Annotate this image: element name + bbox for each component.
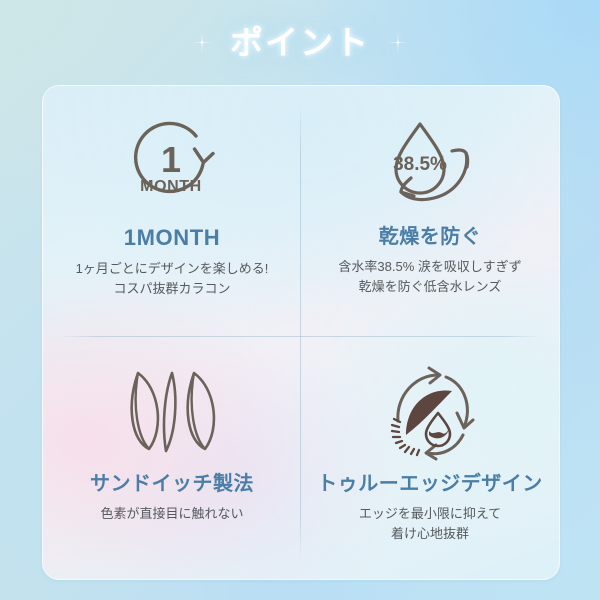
feature-desc-line: 着け心地抜群 xyxy=(359,524,501,544)
one-month-unit: MONTH xyxy=(140,178,202,195)
one-month-cycle-icon: 1 MONTH xyxy=(120,108,224,220)
page-title: ポイント xyxy=(230,26,370,59)
feature-desc-line: 1ヶ月ごとにデザインを楽しめる! xyxy=(76,259,269,279)
one-month-number: 1 xyxy=(161,139,181,180)
water-drop-icon: 38.5% xyxy=(374,108,486,220)
feature-desc-one-month: 1ヶ月ごとにデザインを楽しめる! コスパ抜群カラコン xyxy=(76,259,269,299)
feature-desc-line: コスパ抜群カラコン xyxy=(76,279,269,299)
feature-desc-true-edge-design: エッジを最小限に抑えて 着け心地抜群 xyxy=(359,504,501,544)
feature-title-sandwich-method: サンドイッチ製法 xyxy=(90,473,254,495)
feature-desc-line: 色素が直接目に触れない xyxy=(100,504,243,524)
feature-desc-line: 乾燥を防ぐ低含水レンズ xyxy=(338,277,521,297)
feature-title-prevent-dryness: 乾燥を防ぐ xyxy=(379,226,482,248)
feature-sandwich-method: サンドイッチ製法 色素が直接目に触れない xyxy=(43,333,301,580)
feature-desc-line: エッジを最小限に抑えて xyxy=(359,504,501,524)
promo-graphic: ポイント 1 MONTH 1MONTH 1ヶ月ごとにデザインを楽しめる! xyxy=(0,0,600,600)
feature-title-true-edge-design: トゥルーエッジデザイン xyxy=(317,473,543,495)
feature-true-edge-design: トゥルーエッジデザイン エッジを最小限に抑えて 着け心地抜群 xyxy=(301,333,559,580)
features-grid: 1 MONTH 1MONTH 1ヶ月ごとにデザインを楽しめる! コスパ抜群カラコ… xyxy=(43,86,559,579)
feature-prevent-dryness: 38.5% 乾燥を防ぐ 含水率38.5% 涙を吸収しすぎず 乾燥を防ぐ低含水レン… xyxy=(301,86,559,333)
sparkle-icon-right xyxy=(386,31,410,55)
water-content-value: 38.5% xyxy=(393,154,447,175)
features-card: 1 MONTH 1MONTH 1ヶ月ごとにデザインを楽しめる! コスパ抜群カラコ… xyxy=(42,85,560,580)
sparkle-icon-left xyxy=(190,31,214,55)
feature-desc-prevent-dryness: 含水率38.5% 涙を吸収しすぎず 乾燥を防ぐ低含水レンズ xyxy=(338,257,521,297)
feature-desc-line: 含水率38.5% 涙を吸収しすぎず xyxy=(338,257,521,277)
feature-desc-sandwich-method: 色素が直接目に触れない xyxy=(100,504,243,524)
feature-title-one-month: 1MONTH xyxy=(124,226,221,250)
eye-comfort-cycle-icon xyxy=(374,355,486,467)
feature-one-month: 1 MONTH 1MONTH 1ヶ月ごとにデザインを楽しめる! コスパ抜群カラコ… xyxy=(43,86,301,333)
sandwich-lens-icon xyxy=(116,355,228,467)
header: ポイント xyxy=(0,0,600,85)
